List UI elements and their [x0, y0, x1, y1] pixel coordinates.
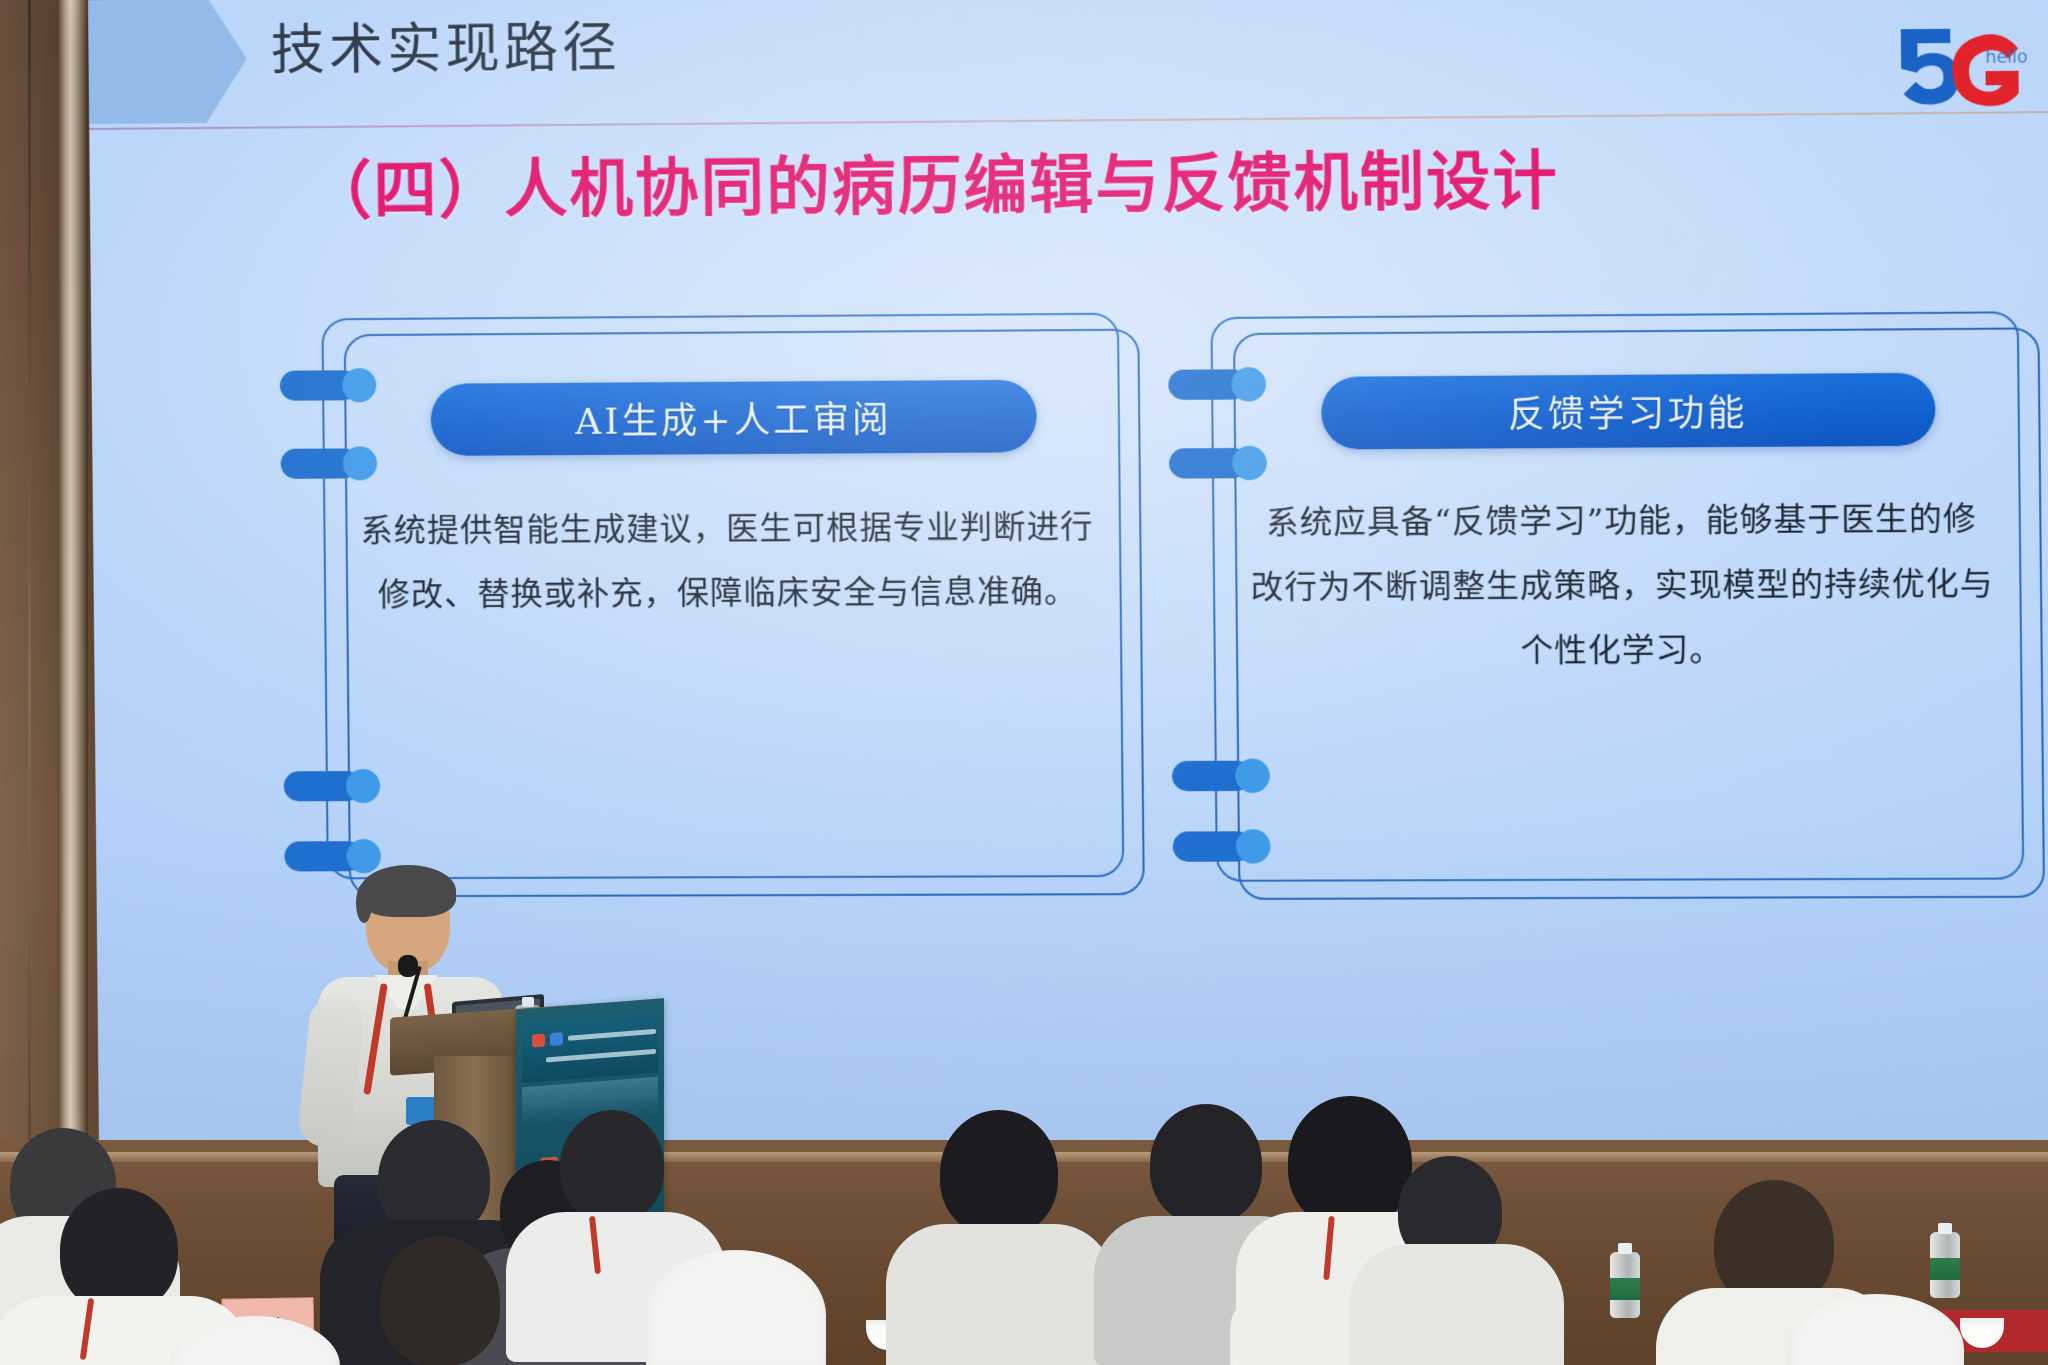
- slide-header-title: 技术实现路径: [270, 21, 620, 78]
- slide-title: （四）人机协同的病历编辑与反馈机制设计: [308, 129, 1560, 231]
- card-right-body-line-1: 系统应具备“反馈学习”功能，能够基于医生的修: [1232, 486, 2010, 555]
- water-bottle: [1930, 1232, 1960, 1298]
- card-left: AI生成+人工审阅 系统提供智能生成建议，医生可根据专业判断进行 修改、替换或补…: [321, 313, 1124, 880]
- lectern-banner-line-2: [546, 1049, 656, 1063]
- bottle-label: [1930, 1258, 1960, 1280]
- lectern-banner-title-band: [522, 1013, 658, 1084]
- card-right-body-line-3: 个性化学习。: [1234, 616, 2012, 684]
- card-right-heading-pill: 反馈学习功能: [1321, 373, 1936, 450]
- 5g-hello-logo: hello: [1886, 18, 2031, 113]
- binder-clip-top-1: [280, 370, 377, 401]
- audience-head: [1288, 1096, 1412, 1228]
- binder-clip-knob: [1236, 829, 1271, 863]
- header-divider-rule: [89, 111, 2048, 130]
- binder-clip-top-2: [1169, 448, 1267, 479]
- card-right-body-line-2: 改行为不断调整生成策略，实现模型的持续优化与: [1233, 551, 2011, 620]
- binder-clip-knob: [346, 769, 380, 803]
- audience-shoulders: [1350, 1244, 1564, 1365]
- bottle-label: [1610, 1278, 1640, 1300]
- lectern-banner-line-1: [568, 1029, 656, 1041]
- binder-clip-top-2: [281, 448, 378, 479]
- bottle-cap: [1618, 1243, 1632, 1254]
- binder-clip-knob: [1235, 759, 1270, 793]
- card-left-body-line-2: 修改、替换或补充，保障临床安全与信息准确。: [354, 559, 1102, 627]
- card-right-heading-text: 反馈学习功能: [1508, 384, 1748, 438]
- binder-clip-knob: [343, 446, 377, 480]
- binder-clip-bottom-2: [1173, 831, 1271, 862]
- binder-clip-top-1: [1168, 369, 1266, 400]
- presenter-hair: [360, 865, 456, 917]
- svg-text:hello: hello: [1985, 47, 2027, 68]
- audience-shoulders: [886, 1224, 1114, 1365]
- card-right: 反馈学习功能 系统应具备“反馈学习”功能，能够基于医生的修 改行为不断调整生成策…: [1210, 311, 2024, 882]
- bottle-cap: [1938, 1223, 1952, 1234]
- lectern-banner-logo-1: [532, 1034, 545, 1048]
- binder-clip-knob: [1231, 367, 1266, 402]
- audience-foreground: 张庆 胡建平: [0, 1120, 2048, 1365]
- binder-clip-bottom-1: [1172, 761, 1270, 792]
- chevron-right-icon: [88, 0, 247, 124]
- binder-clip-knob: [342, 368, 376, 402]
- card-right-body: 系统应具备“反馈学习”功能，能够基于医生的修 改行为不断调整生成策略，实现模型的…: [1232, 486, 2012, 684]
- audience-head: [560, 1110, 664, 1222]
- lectern-banner-logo-2: [550, 1032, 563, 1046]
- conference-photo-scene: 技术实现路径 hello （四）人机协同的病历编辑与反馈机制设计: [0, 0, 2048, 1365]
- audience-head: [60, 1188, 178, 1312]
- card-left-heading-pill: AI生成+人工审阅: [431, 380, 1037, 456]
- card-left-heading-text: AI生成+人工审阅: [575, 391, 892, 445]
- water-bottle: [1610, 1252, 1640, 1318]
- card-left-body-line-1: 系统提供智能生成建议，医生可根据专业判断进行: [353, 494, 1101, 562]
- binder-clip-bottom-1: [284, 771, 381, 801]
- binder-clip-knob: [1232, 446, 1267, 481]
- audience-head: [380, 1236, 500, 1365]
- card-left-body: 系统提供智能生成建议，医生可根据专业判断进行 修改、替换或补充，保障临床安全与信…: [353, 494, 1101, 627]
- audience-head: [1150, 1104, 1262, 1224]
- chair-back: [646, 1250, 826, 1365]
- audience-head: [940, 1110, 1058, 1236]
